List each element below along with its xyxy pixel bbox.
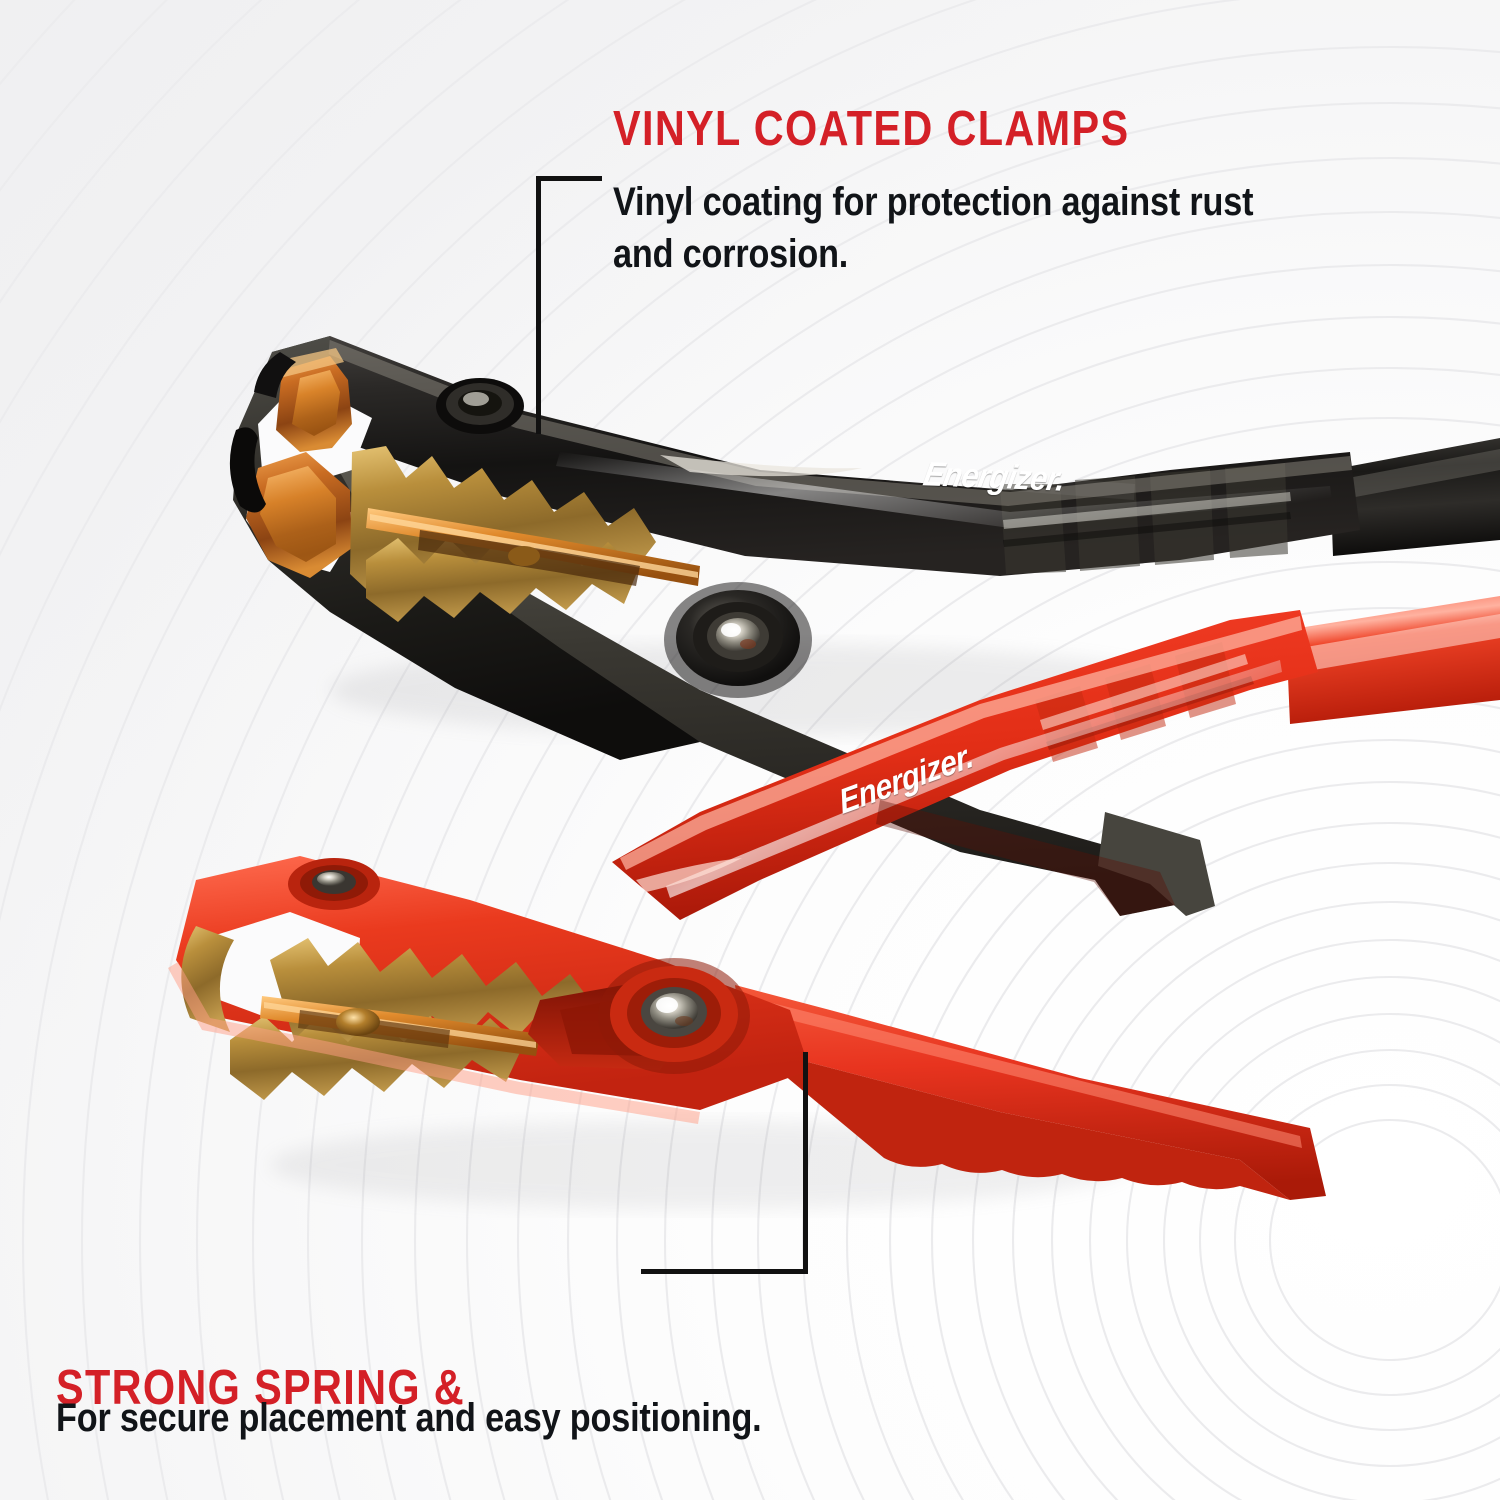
black-clamp-boss [436,378,524,434]
body-line: Vinyl coating for protection against rus… [613,176,1253,228]
body-strong-spring-comfortable-handle: For secure placement and easy positionin… [56,1392,762,1444]
body-line: For secure placement and easy positionin… [56,1392,762,1444]
product-feature-image: Energizer. Energizer. VINYL COATED CLAMP… [0,0,1500,1500]
red-clamp-pivot-rivet [598,958,750,1074]
black-clamp-pivot-rivet [664,582,812,698]
headline-vinyl-coated-clamps: VINYL COATED CLAMPS [613,100,1129,158]
body-line: and corrosion. [613,228,1253,280]
body-vinyl-coated-clamps: Vinyl coating for protection against rus… [613,176,1253,280]
red-clamp-boss [288,858,380,910]
headline-strong-spring-comfortable-handle: STRONG SPRING & COMFORTABLE HANDLE [56,1243,583,1500]
